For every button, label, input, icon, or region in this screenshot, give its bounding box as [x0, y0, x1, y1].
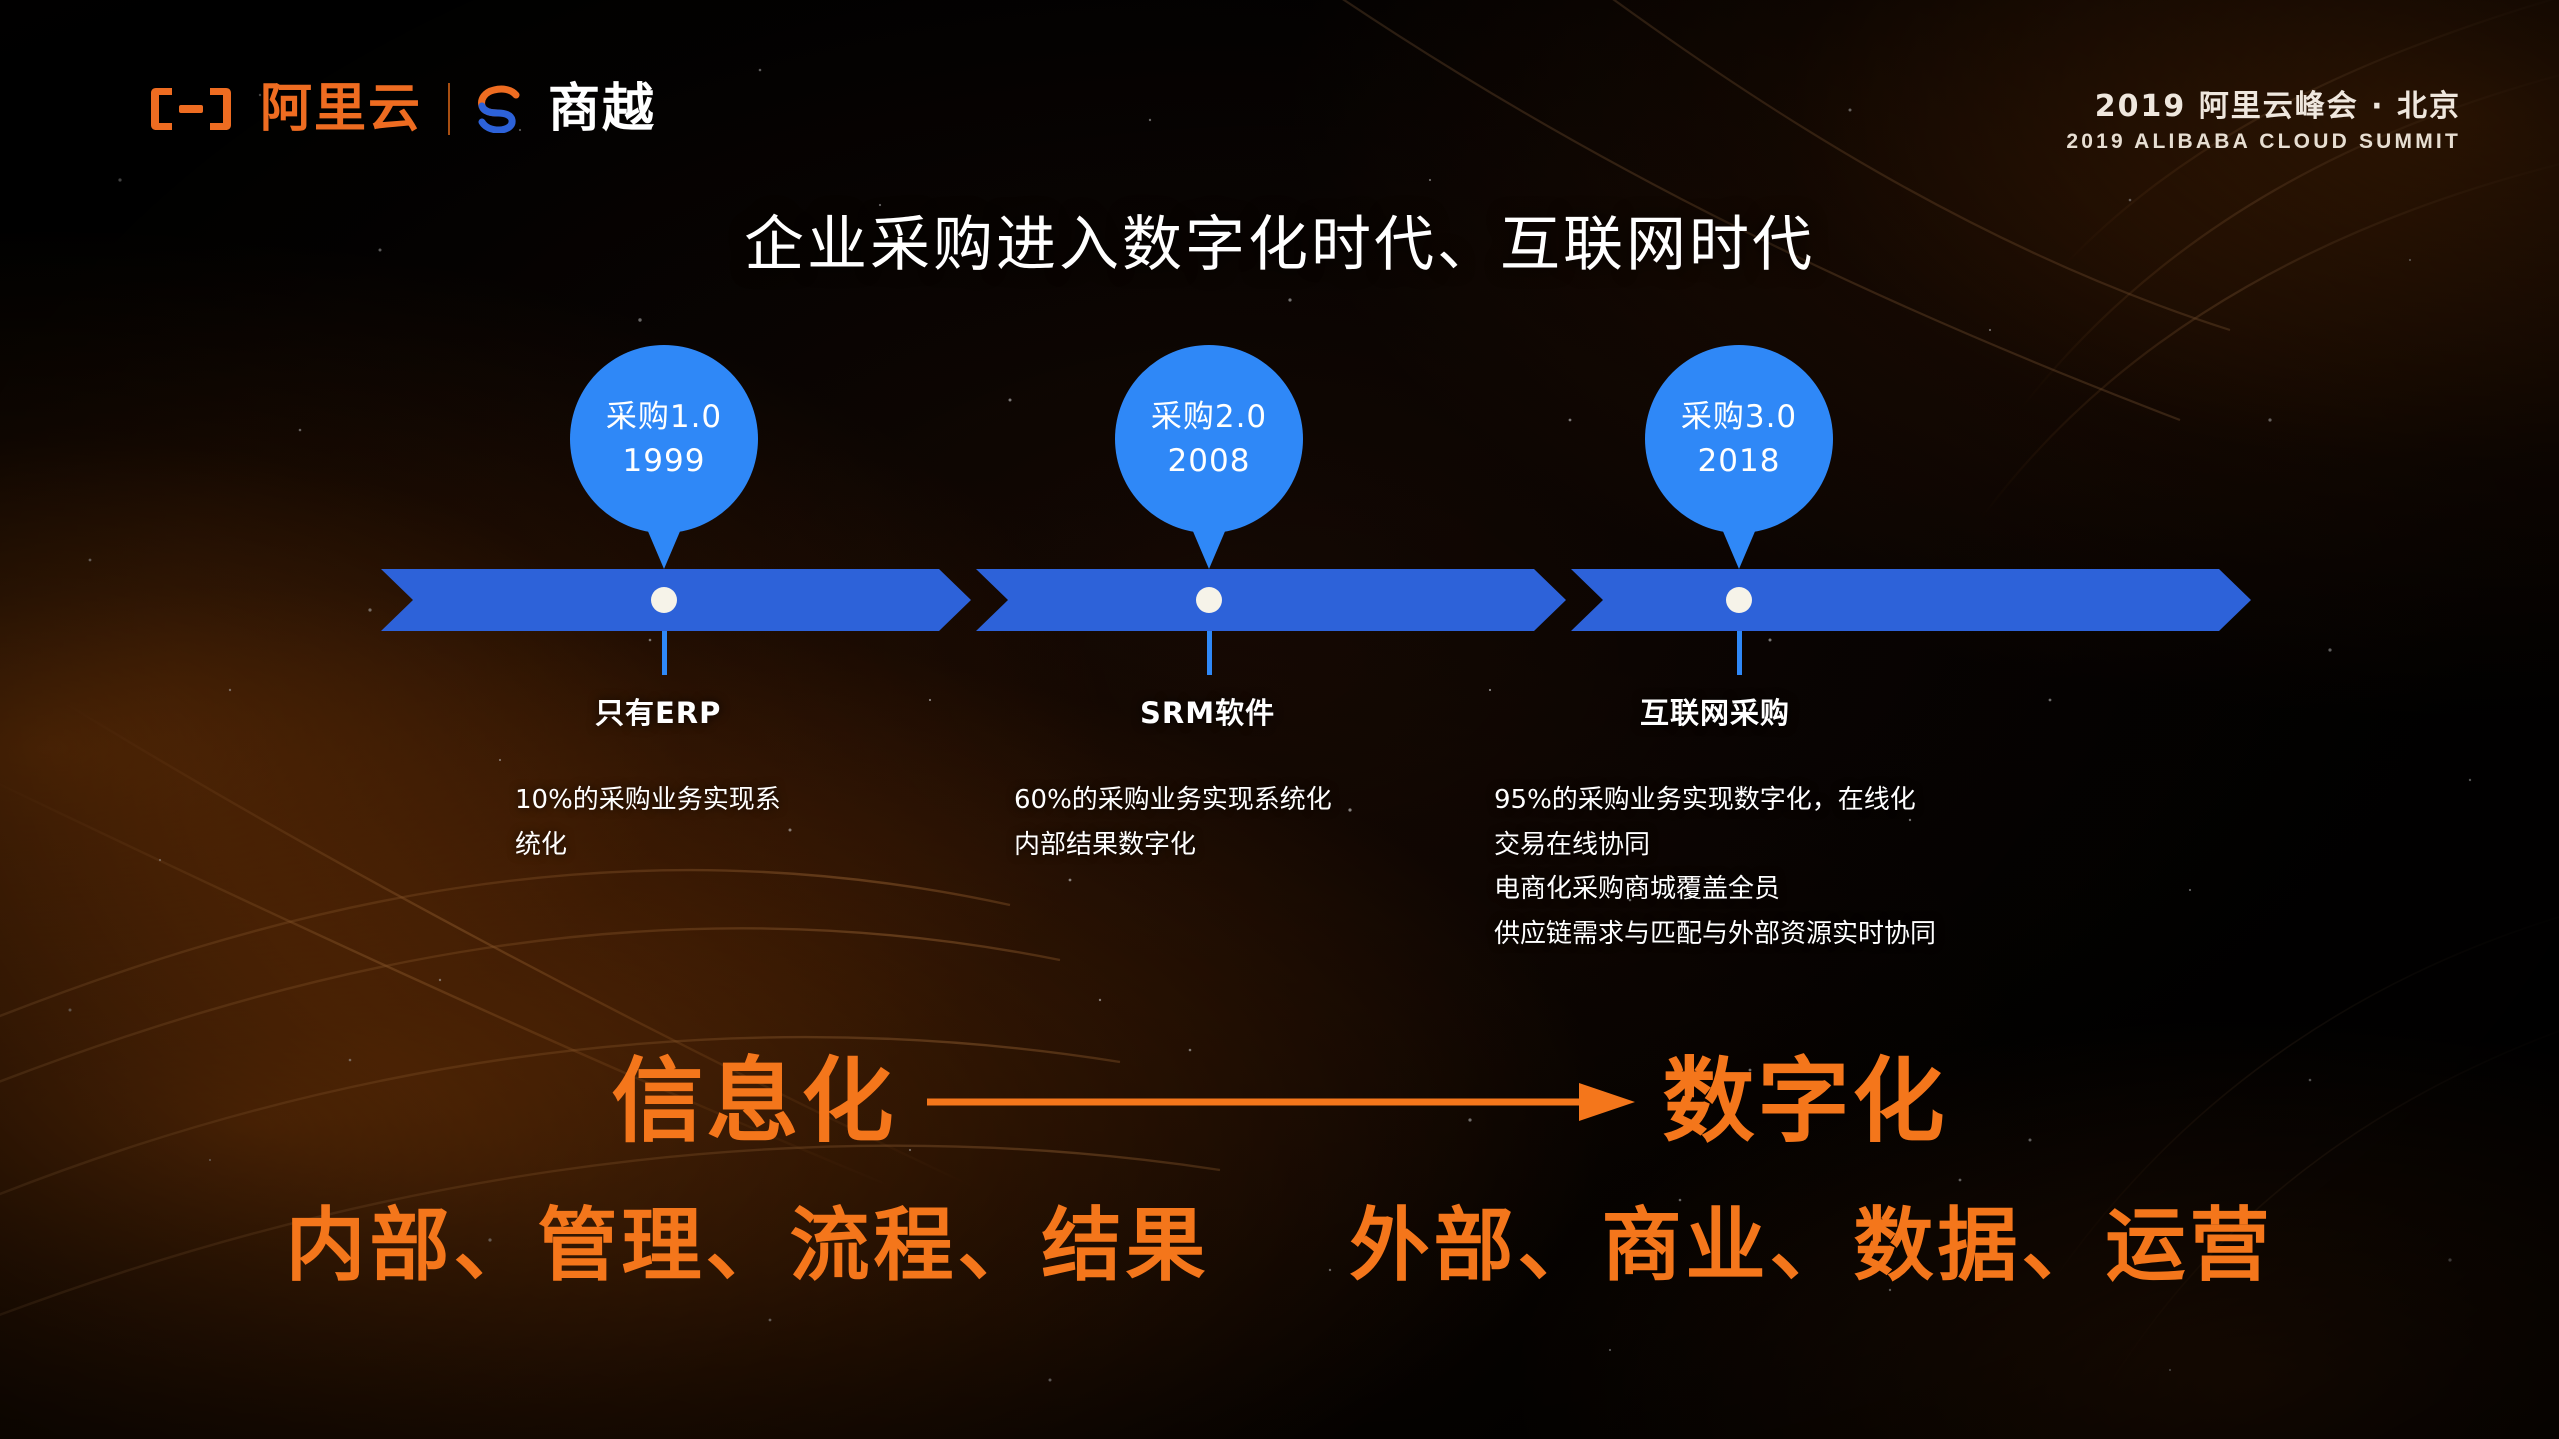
- shangyue-s-mark-icon: [476, 85, 522, 133]
- bubble-year-3: 2018: [1698, 439, 1781, 483]
- timeline-node-stem-1: [662, 631, 667, 675]
- timeline-step-desc-2: 60%的采购业务实现系统化 内部结果数字化: [1014, 778, 1332, 867]
- timeline-step-desc-1: 10%的采购业务实现系 统化: [515, 778, 781, 867]
- bubble-year-1: 1999: [623, 439, 706, 483]
- bubble-version-2: 采购2.0: [1151, 395, 1267, 439]
- transition-row: 信息化 数字化: [0, 1056, 2559, 1148]
- slide-canvas: 阿里云 商越 2019 阿里云峰会 · 北京 2019 ALIBABA CLOU…: [0, 0, 2559, 1439]
- timeline-chevron-3: [1571, 569, 2251, 631]
- right-arrow-icon: [925, 1082, 1635, 1122]
- timeline-step-label-2: SRM软件: [1140, 690, 1275, 732]
- timeline-step-label-1: 只有ERP: [595, 690, 721, 732]
- summit-title-en: 2019 ALIBABA CLOUD SUMMIT: [2066, 130, 2461, 154]
- right-tags-label: 外部、商业、数据、运营: [1350, 1200, 2274, 1292]
- desc-line: 电商化采购商城覆盖全员: [1494, 867, 1936, 912]
- timeline-bubble-3: 采购3.0 2018: [1645, 345, 1833, 533]
- bubble-version-3: 采购3.0: [1681, 395, 1797, 439]
- timeline-bubble-1: 采购1.0 1999: [570, 345, 758, 533]
- transition-tags-row: 内部、管理、流程、结果 外部、商业、数据、运营: [0, 1200, 2559, 1292]
- timeline-chevron-2: [976, 569, 1566, 631]
- page-title: 企业采购进入数字化时代、互联网时代: [0, 196, 2559, 283]
- summit-branding: 2019 阿里云峰会 · 北京 2019 ALIBABA CLOUD SUMMI…: [2066, 88, 2461, 154]
- timeline-node-dot-3: [1726, 587, 1752, 613]
- bubble-year-2: 2008: [1168, 439, 1251, 483]
- brand-secondary-label: 商越: [548, 83, 656, 135]
- timeline-node-dot-2: [1196, 587, 1222, 613]
- left-tags-label: 内部、管理、流程、结果: [286, 1200, 1210, 1292]
- brand-primary-label: 阿里云: [260, 83, 422, 135]
- timeline-step-desc-3: 95%的采购业务实现数字化，在线化 交易在线协同 电商化采购商城覆盖全员 供应链…: [1494, 778, 1936, 957]
- bubble-version-1: 采购1.0: [606, 395, 722, 439]
- transition-from-label: 信息化: [611, 1056, 896, 1148]
- transition-to-label: 数字化: [1663, 1056, 1948, 1148]
- desc-line: 95%的采购业务实现数字化，在线化: [1494, 778, 1936, 823]
- summit-title-cn: 2019 阿里云峰会 · 北京: [2066, 88, 2461, 126]
- desc-line: 统化: [515, 823, 781, 868]
- timeline-bubble-2: 采购2.0 2008: [1115, 345, 1303, 533]
- timeline-node-stem-2: [1207, 631, 1212, 675]
- desc-line: 供应链需求与匹配与外部资源实时协同: [1494, 912, 1936, 957]
- timeline-step-label-3: 互联网采购: [1640, 690, 1790, 732]
- desc-line: 内部结果数字化: [1014, 823, 1332, 868]
- alibaba-cloud-mark-icon: [148, 85, 234, 133]
- timeline-node-stem-3: [1737, 631, 1742, 675]
- vertical-divider-icon: [448, 83, 450, 135]
- desc-line: 60%的采购业务实现系统化: [1014, 778, 1332, 823]
- desc-line: 10%的采购业务实现系: [515, 778, 781, 823]
- timeline-node-dot-1: [651, 587, 677, 613]
- brand-logo-row: 阿里云 商越: [148, 76, 656, 142]
- desc-line: 交易在线协同: [1494, 823, 1936, 868]
